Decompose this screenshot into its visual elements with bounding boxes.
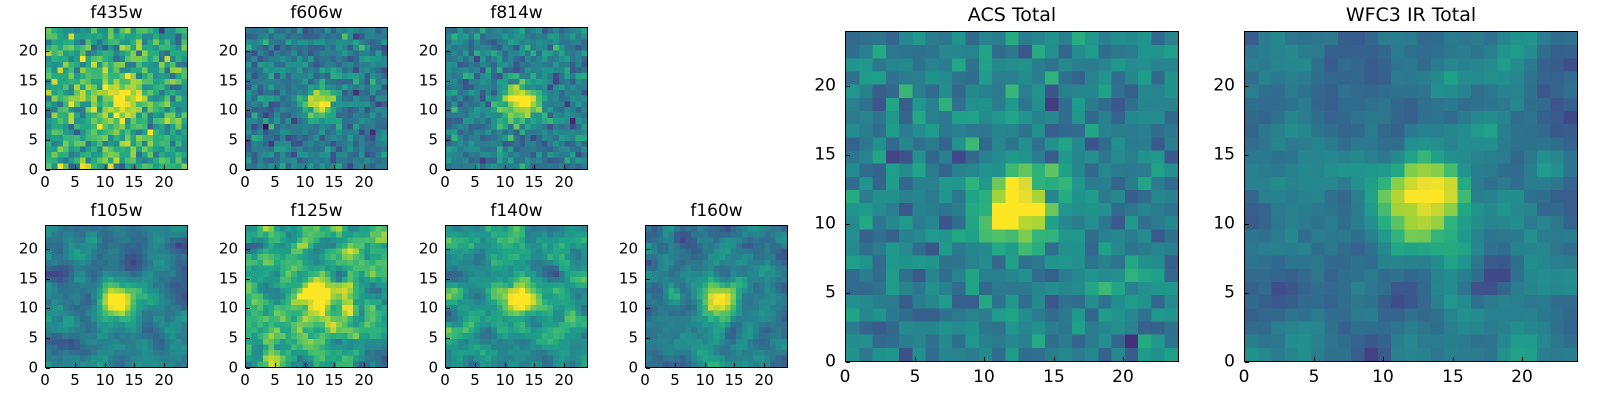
x-ticklabel-f105w-10: 10 xyxy=(95,373,114,388)
x-tick-f814w-10 xyxy=(505,165,506,169)
y-tick-f435w-10 xyxy=(46,110,50,111)
x-tick-f606w-0 xyxy=(245,165,246,169)
y-ticklabel-f814w-0: 0 xyxy=(428,163,438,178)
y-tick-f160w-10 xyxy=(646,308,650,309)
y-ticklabel-f606w-15: 15 xyxy=(219,74,238,89)
x-ticklabel-f435w-5: 5 xyxy=(70,175,80,190)
x-ticklabel-f105w-5: 5 xyxy=(70,373,80,388)
x-ticklabel-f125w-10: 10 xyxy=(295,373,314,388)
x-ticklabel-f140w-20: 20 xyxy=(554,373,573,388)
x-ticklabel-f160w-20: 20 xyxy=(754,373,773,388)
y-tick-wfc3-ir-total-10 xyxy=(1245,224,1249,225)
x-tick-f140w-15 xyxy=(534,363,535,367)
y-tick-wfc3-ir-total-5 xyxy=(1245,293,1249,294)
y-tick-f160w-15 xyxy=(646,279,650,280)
x-tick-wfc3-ir-total-5 xyxy=(1314,357,1315,361)
y-ticklabel-f606w-0: 0 xyxy=(228,163,238,178)
y-ticklabel-f140w-0: 0 xyxy=(428,361,438,376)
y-tick-f814w-20 xyxy=(446,51,450,52)
y-ticklabel-acs-total-20: 20 xyxy=(814,78,836,95)
x-tick-acs-total-10 xyxy=(984,357,985,361)
y-tick-wfc3-ir-total-15 xyxy=(1245,155,1249,156)
y-ticklabel-f140w-15: 15 xyxy=(419,272,438,287)
y-ticklabel-f606w-5: 5 xyxy=(228,133,238,148)
y-tick-f125w-0 xyxy=(246,368,250,369)
x-tick-f435w-5 xyxy=(75,165,76,169)
panel-title-f435w: f435w xyxy=(45,5,188,22)
y-ticklabel-f125w-20: 20 xyxy=(219,242,238,257)
heatmap-image xyxy=(246,226,387,367)
y-ticklabel-f435w-0: 0 xyxy=(28,163,38,178)
y-ticklabel-f140w-5: 5 xyxy=(428,331,438,346)
x-ticklabel-f606w-15: 15 xyxy=(324,175,343,190)
panel-f125w: f125w0510152005101520 xyxy=(245,225,388,368)
x-ticklabel-acs-total-0: 0 xyxy=(840,369,851,386)
x-tick-f140w-20 xyxy=(564,363,565,367)
x-tick-f125w-20 xyxy=(364,363,365,367)
x-tick-f125w-5 xyxy=(275,363,276,367)
x-ticklabel-f160w-0: 0 xyxy=(640,373,650,388)
x-ticklabel-f814w-20: 20 xyxy=(554,175,573,190)
y-ticklabel-acs-total-0: 0 xyxy=(825,354,836,371)
x-ticklabel-f814w-10: 10 xyxy=(495,175,514,190)
y-tick-f435w-0 xyxy=(46,170,50,171)
x-ticklabel-f814w-0: 0 xyxy=(440,175,450,190)
x-ticklabel-f435w-10: 10 xyxy=(95,175,114,190)
panel-title-f140w: f140w xyxy=(445,203,588,220)
x-tick-wfc3-ir-total-10 xyxy=(1383,357,1384,361)
heatmap-image xyxy=(46,28,187,169)
y-ticklabel-wfc3-ir-total-15: 15 xyxy=(1213,147,1235,164)
panel-f606w: f606w0510152005101520 xyxy=(245,27,388,170)
y-ticklabel-f140w-20: 20 xyxy=(419,242,438,257)
y-tick-f606w-20 xyxy=(246,51,250,52)
x-ticklabel-f140w-0: 0 xyxy=(440,373,450,388)
y-tick-wfc3-ir-total-0 xyxy=(1245,362,1249,363)
x-ticklabel-f435w-15: 15 xyxy=(124,175,143,190)
y-ticklabel-acs-total-15: 15 xyxy=(814,147,836,164)
x-ticklabel-f140w-10: 10 xyxy=(495,373,514,388)
x-ticklabel-acs-total-20: 20 xyxy=(1112,369,1134,386)
y-ticklabel-wfc3-ir-total-5: 5 xyxy=(1224,285,1235,302)
x-ticklabel-f105w-20: 20 xyxy=(154,373,173,388)
x-tick-f105w-5 xyxy=(75,363,76,367)
y-tick-f105w-15 xyxy=(46,279,50,280)
x-tick-f105w-0 xyxy=(45,363,46,367)
y-ticklabel-f160w-15: 15 xyxy=(619,272,638,287)
x-tick-f125w-10 xyxy=(305,363,306,367)
x-ticklabel-f125w-15: 15 xyxy=(324,373,343,388)
y-tick-f606w-10 xyxy=(246,110,250,111)
x-ticklabel-acs-total-15: 15 xyxy=(1043,369,1065,386)
x-tick-f435w-15 xyxy=(134,165,135,169)
x-tick-f606w-5 xyxy=(275,165,276,169)
x-ticklabel-acs-total-5: 5 xyxy=(910,369,921,386)
y-tick-f140w-20 xyxy=(446,249,450,250)
x-ticklabel-f435w-20: 20 xyxy=(154,175,173,190)
x-ticklabel-f125w-20: 20 xyxy=(354,373,373,388)
x-tick-acs-total-0 xyxy=(845,357,846,361)
x-tick-f140w-0 xyxy=(445,363,446,367)
panel-acs-total: ACS Total0510152005101520 xyxy=(845,31,1179,362)
x-tick-acs-total-5 xyxy=(915,357,916,361)
x-tick-acs-total-20 xyxy=(1123,357,1124,361)
y-ticklabel-f814w-15: 15 xyxy=(419,74,438,89)
x-ticklabel-f606w-20: 20 xyxy=(354,175,373,190)
axes-f606w xyxy=(245,27,388,170)
panel-title-f125w: f125w xyxy=(245,203,388,220)
y-tick-f105w-10 xyxy=(46,308,50,309)
y-ticklabel-f160w-10: 10 xyxy=(619,301,638,316)
y-tick-f105w-5 xyxy=(46,338,50,339)
y-ticklabel-f814w-10: 10 xyxy=(419,103,438,118)
y-ticklabel-f105w-15: 15 xyxy=(19,272,38,287)
panel-f435w: f435w0510152005101520 xyxy=(45,27,188,170)
y-tick-f160w-5 xyxy=(646,338,650,339)
y-ticklabel-f125w-10: 10 xyxy=(219,301,238,316)
y-tick-f814w-15 xyxy=(446,81,450,82)
y-tick-f125w-5 xyxy=(246,338,250,339)
y-tick-f125w-20 xyxy=(246,249,250,250)
y-tick-acs-total-0 xyxy=(846,362,850,363)
heatmap-image xyxy=(1245,32,1577,361)
x-ticklabel-f125w-0: 0 xyxy=(240,373,250,388)
x-tick-f105w-10 xyxy=(105,363,106,367)
x-tick-f814w-5 xyxy=(475,165,476,169)
x-ticklabel-wfc3-ir-total-15: 15 xyxy=(1442,369,1464,386)
x-ticklabel-wfc3-ir-total-0: 0 xyxy=(1239,369,1250,386)
heatmap-image xyxy=(846,32,1178,361)
heatmap-image xyxy=(446,226,587,367)
y-tick-f435w-20 xyxy=(46,51,50,52)
x-ticklabel-wfc3-ir-total-10: 10 xyxy=(1372,369,1394,386)
y-ticklabel-f814w-5: 5 xyxy=(428,133,438,148)
y-ticklabel-f160w-20: 20 xyxy=(619,242,638,257)
x-tick-f606w-20 xyxy=(364,165,365,169)
panel-f814w: f814w0510152005101520 xyxy=(445,27,588,170)
x-tick-f814w-20 xyxy=(564,165,565,169)
x-ticklabel-f606w-10: 10 xyxy=(295,175,314,190)
y-ticklabel-wfc3-ir-total-0: 0 xyxy=(1224,354,1235,371)
axes-f160w xyxy=(645,225,788,368)
y-ticklabel-f160w-0: 0 xyxy=(628,361,638,376)
x-tick-f160w-5 xyxy=(675,363,676,367)
heatmap-image xyxy=(646,226,787,367)
heatmap-image xyxy=(446,28,587,169)
x-tick-f160w-10 xyxy=(705,363,706,367)
panel-title-f814w: f814w xyxy=(445,5,588,22)
y-tick-f105w-20 xyxy=(46,249,50,250)
axes-f435w xyxy=(45,27,188,170)
y-tick-f606w-5 xyxy=(246,140,250,141)
x-ticklabel-acs-total-10: 10 xyxy=(973,369,995,386)
y-ticklabel-acs-total-10: 10 xyxy=(814,216,836,233)
y-ticklabel-f140w-10: 10 xyxy=(419,301,438,316)
y-tick-f105w-0 xyxy=(46,368,50,369)
heatmap-image xyxy=(46,226,187,367)
x-tick-wfc3-ir-total-0 xyxy=(1244,357,1245,361)
x-ticklabel-wfc3-ir-total-20: 20 xyxy=(1511,369,1533,386)
y-ticklabel-f435w-5: 5 xyxy=(28,133,38,148)
axes-acs-total xyxy=(845,31,1179,362)
y-ticklabel-f125w-0: 0 xyxy=(228,361,238,376)
y-tick-f125w-15 xyxy=(246,279,250,280)
x-ticklabel-f140w-15: 15 xyxy=(524,373,543,388)
x-tick-f606w-10 xyxy=(305,165,306,169)
y-ticklabel-f105w-5: 5 xyxy=(28,331,38,346)
x-tick-f140w-10 xyxy=(505,363,506,367)
x-tick-f105w-15 xyxy=(134,363,135,367)
y-tick-acs-total-20 xyxy=(846,86,850,87)
y-ticklabel-f606w-20: 20 xyxy=(219,44,238,59)
panel-title-f606w: f606w xyxy=(245,5,388,22)
x-ticklabel-f125w-5: 5 xyxy=(270,373,280,388)
x-ticklabel-f814w-15: 15 xyxy=(524,175,543,190)
y-tick-f814w-5 xyxy=(446,140,450,141)
axes-f140w xyxy=(445,225,588,368)
x-tick-f814w-15 xyxy=(534,165,535,169)
y-ticklabel-wfc3-ir-total-20: 20 xyxy=(1213,78,1235,95)
y-ticklabel-f105w-20: 20 xyxy=(19,242,38,257)
panel-f140w: f140w0510152005101520 xyxy=(445,225,588,368)
x-tick-f140w-5 xyxy=(475,363,476,367)
x-tick-f435w-0 xyxy=(45,165,46,169)
x-ticklabel-f435w-0: 0 xyxy=(40,175,50,190)
y-tick-acs-total-5 xyxy=(846,293,850,294)
x-tick-acs-total-15 xyxy=(1054,357,1055,361)
axes-f105w xyxy=(45,225,188,368)
x-tick-f435w-20 xyxy=(164,165,165,169)
y-ticklabel-f105w-10: 10 xyxy=(19,301,38,316)
x-tick-f160w-15 xyxy=(734,363,735,367)
x-tick-f435w-10 xyxy=(105,165,106,169)
y-tick-f814w-0 xyxy=(446,170,450,171)
y-tick-f435w-15 xyxy=(46,81,50,82)
x-tick-wfc3-ir-total-15 xyxy=(1453,357,1454,361)
x-ticklabel-f140w-5: 5 xyxy=(470,373,480,388)
y-tick-f606w-0 xyxy=(246,170,250,171)
y-tick-f435w-5 xyxy=(46,140,50,141)
y-tick-f140w-5 xyxy=(446,338,450,339)
x-tick-f125w-0 xyxy=(245,363,246,367)
y-tick-f140w-0 xyxy=(446,368,450,369)
axes-f125w xyxy=(245,225,388,368)
x-ticklabel-wfc3-ir-total-5: 5 xyxy=(1309,369,1320,386)
y-tick-f140w-15 xyxy=(446,279,450,280)
x-ticklabel-f160w-10: 10 xyxy=(695,373,714,388)
y-tick-acs-total-15 xyxy=(846,155,850,156)
panel-title-wfc3-ir-total: WFC3 IR Total xyxy=(1244,6,1578,25)
axes-f814w xyxy=(445,27,588,170)
x-tick-f606w-15 xyxy=(334,165,335,169)
y-tick-f140w-10 xyxy=(446,308,450,309)
x-ticklabel-f606w-0: 0 xyxy=(240,175,250,190)
x-ticklabel-f814w-5: 5 xyxy=(470,175,480,190)
x-tick-f160w-0 xyxy=(645,363,646,367)
x-ticklabel-f105w-0: 0 xyxy=(40,373,50,388)
x-ticklabel-f160w-15: 15 xyxy=(724,373,743,388)
y-ticklabel-f435w-20: 20 xyxy=(19,44,38,59)
y-ticklabel-f606w-10: 10 xyxy=(219,103,238,118)
x-tick-wfc3-ir-total-20 xyxy=(1522,357,1523,361)
y-ticklabel-acs-total-5: 5 xyxy=(825,285,836,302)
x-tick-f160w-20 xyxy=(764,363,765,367)
panel-f160w: f160w0510152005101520 xyxy=(645,225,788,368)
y-ticklabel-f435w-15: 15 xyxy=(19,74,38,89)
y-tick-acs-total-10 xyxy=(846,224,850,225)
y-tick-f606w-15 xyxy=(246,81,250,82)
y-ticklabel-f160w-5: 5 xyxy=(628,331,638,346)
y-tick-f814w-10 xyxy=(446,110,450,111)
y-ticklabel-f814w-20: 20 xyxy=(419,44,438,59)
panel-wfc3-ir-total: WFC3 IR Total0510152005101520 xyxy=(1244,31,1578,362)
heatmap-image xyxy=(246,28,387,169)
panel-f105w: f105w0510152005101520 xyxy=(45,225,188,368)
y-ticklabel-f435w-10: 10 xyxy=(19,103,38,118)
panel-title-acs-total: ACS Total xyxy=(845,6,1179,25)
y-tick-f160w-0 xyxy=(646,368,650,369)
x-tick-f105w-20 xyxy=(164,363,165,367)
y-tick-f160w-20 xyxy=(646,249,650,250)
x-ticklabel-f606w-5: 5 xyxy=(270,175,280,190)
y-tick-f125w-10 xyxy=(246,308,250,309)
figure-canvas: f435w0510152005101520f606w05101520051015… xyxy=(0,0,1600,400)
y-ticklabel-wfc3-ir-total-10: 10 xyxy=(1213,216,1235,233)
axes-wfc3-ir-total xyxy=(1244,31,1578,362)
x-tick-f814w-0 xyxy=(445,165,446,169)
x-ticklabel-f105w-15: 15 xyxy=(124,373,143,388)
y-ticklabel-f105w-0: 0 xyxy=(28,361,38,376)
y-tick-wfc3-ir-total-20 xyxy=(1245,86,1249,87)
panel-title-f105w: f105w xyxy=(45,203,188,220)
panel-title-f160w: f160w xyxy=(645,203,788,220)
y-ticklabel-f125w-5: 5 xyxy=(228,331,238,346)
x-ticklabel-f160w-5: 5 xyxy=(670,373,680,388)
y-ticklabel-f125w-15: 15 xyxy=(219,272,238,287)
x-tick-f125w-15 xyxy=(334,363,335,367)
